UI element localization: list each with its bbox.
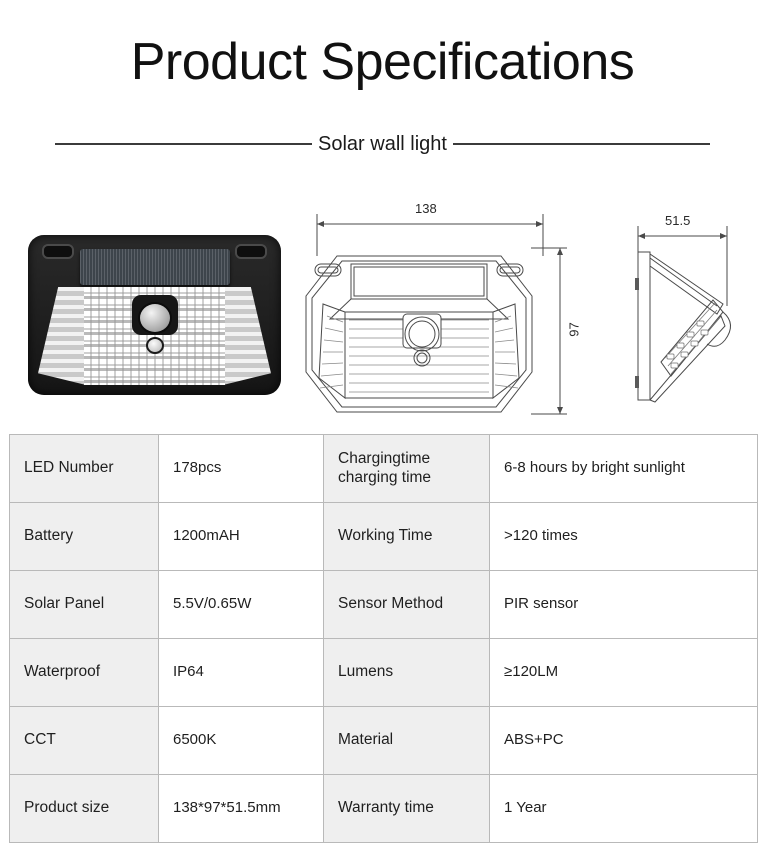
spec-value: IP64 (159, 639, 324, 707)
spec-label: Warranty time (324, 775, 490, 843)
spec-label: LED Number (10, 435, 159, 503)
side-depth-dimension: 51.5 (665, 214, 690, 227)
spec-value: 5.5V/0.65W (159, 571, 324, 639)
product-visuals: 138 97 (0, 186, 765, 426)
specifications-table-body: LED Number 178pcs Chargingtime charging … (10, 435, 758, 843)
spec-label: Product size (10, 775, 159, 843)
spec-value: 138*97*51.5mm (159, 775, 324, 843)
ambient-light-sensor (146, 337, 164, 354)
spec-label: Sensor Method (324, 571, 490, 639)
divider-right (453, 143, 710, 145)
specifications-table: LED Number 178pcs Chargingtime charging … (9, 434, 758, 843)
divider-left (55, 143, 312, 145)
spec-label: Waterproof (10, 639, 159, 707)
solar-panel (80, 249, 230, 285)
page-title: Product Specifications (0, 36, 765, 88)
spec-value: 1 Year (490, 775, 758, 843)
mounting-tab-right (235, 244, 267, 259)
subtitle-row: Solar wall light (0, 128, 765, 160)
spec-value: ABS+PC (490, 707, 758, 775)
spec-label: Working Time (324, 503, 490, 571)
spec-value: 6500K (159, 707, 324, 775)
front-height-dimension: 97 (568, 322, 581, 336)
front-width-dimension: 138 (415, 202, 437, 215)
side-view-technical-drawing: 51.5 (605, 186, 765, 431)
spec-label: Lumens (324, 639, 490, 707)
spec-label: Chargingtime charging time (324, 435, 490, 503)
spec-value: 1200mAH (159, 503, 324, 571)
pir-sensor-housing (132, 295, 178, 335)
table-row: Solar Panel 5.5V/0.65W Sensor Method PIR… (10, 571, 758, 639)
table-row: Waterproof IP64 Lumens ≥120LM (10, 639, 758, 707)
pir-sensor-dome (138, 302, 172, 334)
spec-value: ≥120LM (490, 639, 758, 707)
table-row: LED Number 178pcs Chargingtime charging … (10, 435, 758, 503)
spec-value: >120 times (490, 503, 758, 571)
spec-value: PIR sensor (490, 571, 758, 639)
spec-value: 178pcs (159, 435, 324, 503)
spec-label: Material (324, 707, 490, 775)
table-row: Product size 138*97*51.5mm Warranty time… (10, 775, 758, 843)
table-row: CCT 6500K Material ABS+PC (10, 707, 758, 775)
spec-label: Battery (10, 503, 159, 571)
table-row: Battery 1200mAH Working Time >120 times (10, 503, 758, 571)
mounting-tab-left (42, 244, 74, 259)
spec-label: CCT (10, 707, 159, 775)
product-photo (28, 235, 281, 395)
spec-value: 6-8 hours by bright sunlight (490, 435, 758, 503)
front-view-technical-drawing: 138 97 (295, 186, 585, 431)
spec-label: Solar Panel (10, 571, 159, 639)
page-subtitle: Solar wall light (312, 134, 453, 154)
